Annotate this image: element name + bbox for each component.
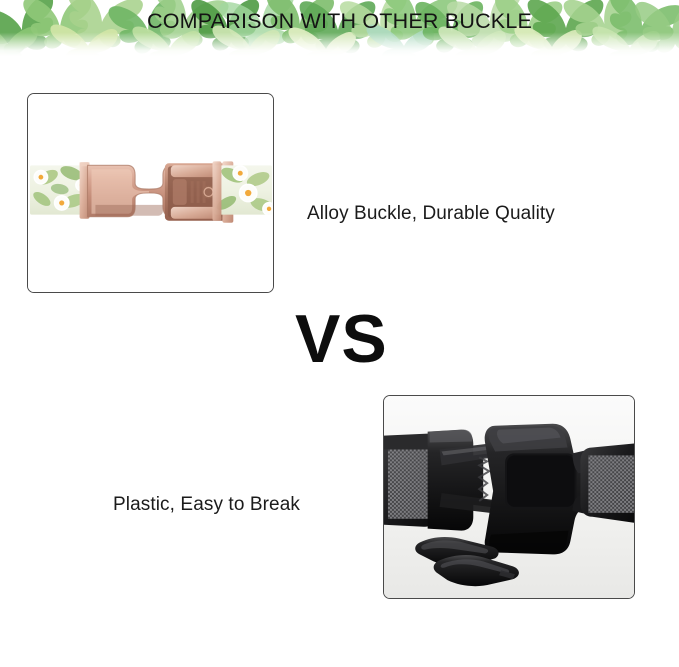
alloy-buckle-photo [27,93,274,293]
plastic-buckle-image [384,396,634,598]
caption-plastic-buckle: Plastic, Easy to Break [113,494,300,516]
page-title: COMPARISON WITH OTHER BUCKLE [0,9,679,34]
header-banner: COMPARISON WITH OTHER BUCKLE [0,0,679,56]
vs-label: VS [295,305,388,373]
caption-alloy-buckle: Alloy Buckle, Durable Quality [307,203,555,225]
alloy-buckle-image [28,94,273,292]
plastic-buckle-photo [383,395,635,599]
